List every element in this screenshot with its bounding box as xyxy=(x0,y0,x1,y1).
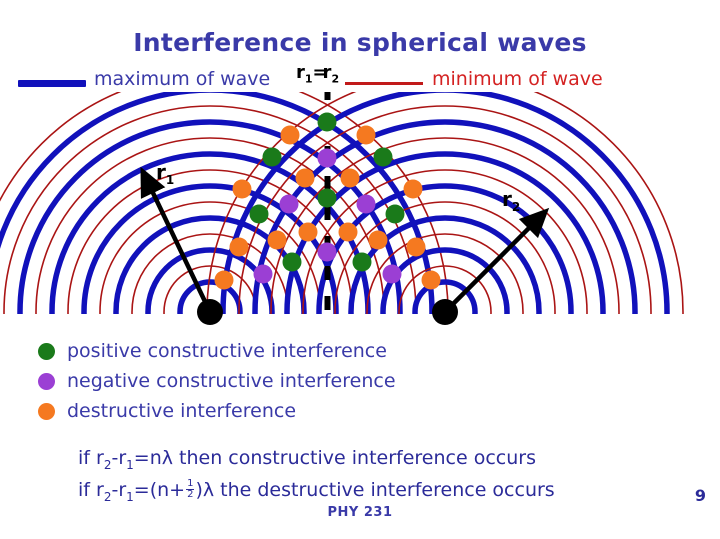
course-footer: PHY 231 xyxy=(0,505,720,520)
dot-negative-constructive xyxy=(254,265,273,284)
one-half-fraction: 12 xyxy=(186,479,194,500)
dot-destructive xyxy=(357,126,376,145)
dot-destructive xyxy=(281,126,300,145)
r1-arrow-label: r1 xyxy=(156,160,174,187)
f2-c: =(n+ xyxy=(134,479,185,501)
f2-b: -r xyxy=(111,479,126,501)
interference-type-legend: positive constructive interference negat… xyxy=(38,336,558,426)
r1-equals-r2-annotation: r1=r2 xyxy=(296,62,339,86)
dot-destructive xyxy=(299,223,318,242)
dot-destructive xyxy=(215,271,234,290)
maximum-wave-swatch xyxy=(18,80,86,87)
r1-symbol: r xyxy=(296,62,305,83)
dot-destructive xyxy=(369,231,388,250)
dot-positive-constructive xyxy=(318,113,337,132)
dot-destructive xyxy=(404,180,423,199)
formula-block: if r2-r1=nλ then constructive interferen… xyxy=(78,446,698,510)
dot-negative-constructive xyxy=(357,195,376,214)
maximum-wave-label: maximum of wave xyxy=(94,68,270,90)
legend-item-negative-constructive: negative constructive interference xyxy=(38,366,558,396)
f2-d: )λ the destructive interference occurs xyxy=(195,479,554,501)
dot-destructive xyxy=(407,238,426,257)
dot-destructive xyxy=(268,231,287,250)
dot-destructive xyxy=(296,169,315,188)
legend-label-positive-constructive: positive constructive interference xyxy=(67,340,387,362)
dot-positive-constructive xyxy=(353,253,372,272)
dot-positive-constructive xyxy=(250,205,269,224)
minimum-wave-swatch xyxy=(345,82,423,85)
minimum-wave-label: minimum of wave xyxy=(432,68,603,90)
f1-a: if r xyxy=(78,447,104,469)
legend-item-positive-constructive: positive constructive interference xyxy=(38,336,558,366)
green-dot-icon xyxy=(38,343,55,360)
r2-arrow xyxy=(445,212,545,312)
dot-positive-constructive xyxy=(283,253,302,272)
legend-item-destructive: destructive interference xyxy=(38,396,558,426)
f2-a: if r xyxy=(78,479,104,501)
f1-b: -r xyxy=(111,447,126,469)
dot-positive-constructive xyxy=(263,148,282,167)
dot-destructive xyxy=(339,223,358,242)
dot-destructive xyxy=(341,169,360,188)
dot-negative-constructive xyxy=(318,149,337,168)
page-title: Interference in spherical waves xyxy=(0,28,720,57)
formula-constructive: if r2-r1=nλ then constructive interferen… xyxy=(78,446,698,478)
dot-destructive xyxy=(233,180,252,199)
r2-subscript: 2 xyxy=(331,73,339,86)
fraction-denominator: 2 xyxy=(186,490,194,500)
right-minimum-arcs xyxy=(207,92,683,332)
legend-label-negative-constructive: negative constructive interference xyxy=(67,370,396,392)
dot-negative-constructive xyxy=(318,243,337,262)
slide-page-number: 9 xyxy=(695,486,706,505)
dot-positive-constructive xyxy=(374,148,393,167)
dot-positive-constructive xyxy=(386,205,405,224)
r2-arrow-label: r2 xyxy=(502,187,520,214)
orange-dot-icon xyxy=(38,403,55,420)
dot-positive-constructive xyxy=(318,189,337,208)
dot-destructive xyxy=(422,271,441,290)
interference-figure: r1 r2 xyxy=(0,92,720,332)
legend-label-destructive: destructive interference xyxy=(67,400,296,422)
dot-destructive xyxy=(230,238,249,257)
equals-sign: = xyxy=(313,62,323,83)
f2-sub2: 1 xyxy=(126,490,134,504)
f1-sub2: 1 xyxy=(126,458,134,472)
right-source-waves xyxy=(207,92,683,332)
purple-dot-icon xyxy=(38,373,55,390)
f1-c: =nλ then constructive interference occur… xyxy=(134,447,536,469)
r1-subscript: 1 xyxy=(305,73,313,86)
dot-negative-constructive xyxy=(383,265,402,284)
interference-svg: r1 r2 xyxy=(0,92,720,332)
dot-negative-constructive xyxy=(280,195,299,214)
slide-root: Interference in spherical waves maximum … xyxy=(0,0,720,539)
